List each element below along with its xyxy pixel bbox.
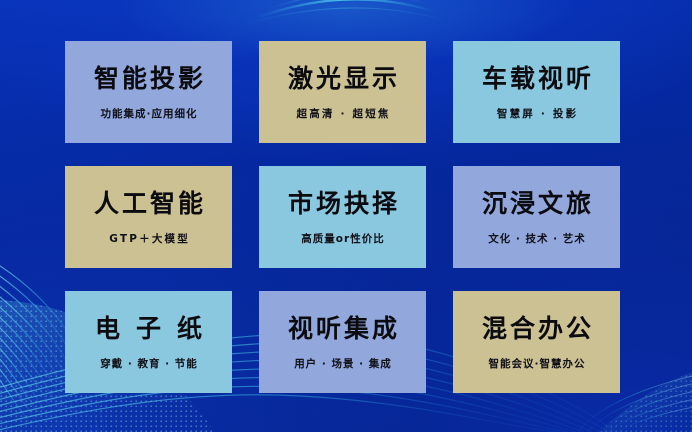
card-title: 车载视听	[479, 66, 594, 91]
topic-card[interactable]: 车载视听 智慧屏 · 投影	[453, 41, 620, 143]
card-subtitle: 智能会议·智慧办公	[488, 359, 586, 370]
card-title: 混合办公	[479, 316, 594, 341]
card-subtitle: 穿戴 · 教育 · 节能	[99, 359, 198, 370]
card-subtitle: 用户 · 场景 · 集成	[293, 359, 392, 370]
card-title: 智能投影	[91, 66, 206, 91]
card-title: 沉浸文旅	[479, 191, 594, 216]
card-title: 激光显示	[285, 66, 400, 91]
topic-card[interactable]: 沉浸文旅 文化 · 技术 · 艺术	[453, 166, 620, 268]
poster-canvas: 智能投影 功能集成·应用细化 激光显示 超高清 · 超短焦 车载视听 智慧屏 ·…	[0, 0, 692, 432]
topic-card[interactable]: 激光显示 超高清 · 超短焦	[259, 41, 426, 143]
card-title: 视听集成	[285, 316, 400, 341]
topic-card[interactable]: 电子纸 穿戴 · 教育 · 节能	[65, 291, 232, 393]
topic-card[interactable]: 视听集成 用户 · 场景 · 集成	[259, 291, 426, 393]
card-subtitle: 超高清 · 超短焦	[294, 109, 390, 120]
card-title: 市场抉择	[285, 191, 400, 216]
topic-card[interactable]: 市场抉择 高质量or性价比	[259, 166, 426, 268]
card-subtitle: GTP＋大模型	[107, 234, 190, 245]
card-subtitle: 高质量or性价比	[300, 234, 384, 245]
topic-card-grid: 智能投影 功能集成·应用细化 激光显示 超高清 · 超短焦 车载视听 智慧屏 ·…	[65, 41, 620, 393]
card-subtitle: 功能集成·应用细化	[100, 109, 198, 120]
card-title: 人工智能	[91, 191, 206, 216]
topic-card[interactable]: 人工智能 GTP＋大模型	[65, 166, 232, 268]
topic-card[interactable]: 智能投影 功能集成·应用细化	[65, 41, 232, 143]
card-title: 电子纸	[79, 316, 218, 341]
card-subtitle: 智慧屏 · 投影	[495, 109, 579, 120]
topic-card[interactable]: 混合办公 智能会议·智慧办公	[453, 291, 620, 393]
card-subtitle: 文化 · 技术 · 艺术	[487, 234, 586, 245]
